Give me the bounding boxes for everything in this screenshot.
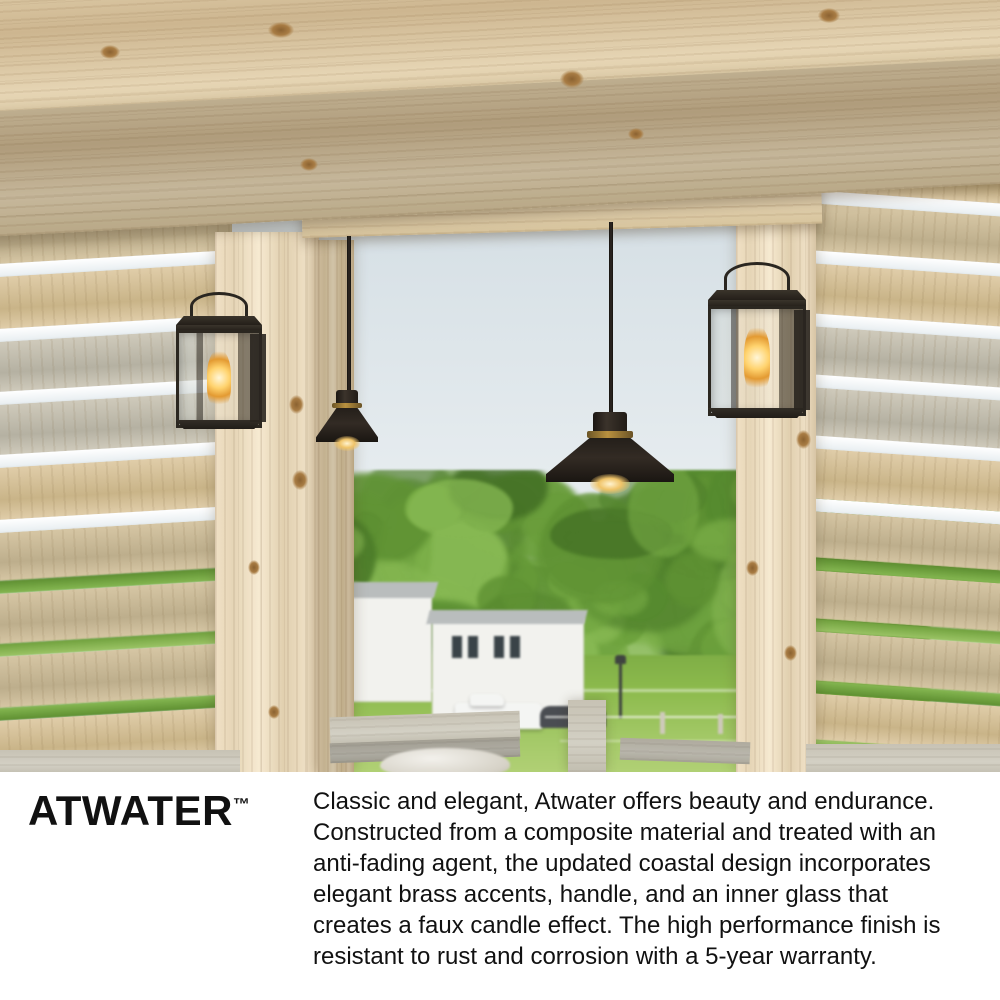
louvered-slat-wall-left [0,150,232,772]
fence-stub [660,712,665,734]
background-house [432,618,584,716]
caption-bar: ATWATER™ Classic and elegant, Atwater of… [0,772,1000,1000]
pendant-cord [609,222,613,422]
wood-knot [818,8,840,23]
pendant-cord [347,236,351,396]
brand-name: ATWATER [28,787,233,834]
lantern-mount-arm [794,310,810,410]
tree-canopy [408,479,513,539]
lantern-roof [708,290,806,300]
pendant-brass-ring [587,431,633,438]
fence-stub [718,714,723,734]
wood-knot [628,128,644,140]
trademark-symbol: ™ [233,795,250,814]
wood-knot [746,560,759,576]
house-window [510,636,520,658]
wall-lantern-right [708,262,806,430]
lantern-candle-flame [744,326,770,392]
wood-knot [560,70,584,88]
wood-knot [784,645,797,661]
wood-knot [248,560,260,575]
product-description: Classic and elegant, Atwater offers beau… [313,786,973,972]
house-window [494,636,504,658]
lantern-candle-flame [207,350,231,408]
louvered-slat-wall-right [812,150,1000,772]
product-description-text: Classic and elegant, Atwater offers beau… [313,786,973,972]
house-window [468,636,478,658]
pendant-cap [593,412,627,432]
house-window [452,636,462,658]
foreground-fence-post [568,700,606,772]
yard-lamp-head [615,655,626,664]
wood-knot [292,470,308,490]
bottom-sill-board [806,744,1000,772]
wood-knot [289,395,304,414]
brand-logo: ATWATER™ [28,790,250,832]
wood-knot [268,22,294,38]
bottom-sill-board [0,750,240,772]
wood-knot [300,158,318,171]
wood-knot [796,430,811,449]
pendant-cap [336,390,358,404]
wall-lantern-left [176,292,262,442]
yard-lamp-post [619,662,622,718]
lantern-mount-arm [250,334,266,422]
product-lifestyle-photograph [0,0,1000,772]
lantern-roof [176,316,262,325]
lantern-base [708,408,806,418]
wood-knot [268,705,280,719]
pendant-brass-ring [332,403,362,408]
house-roof [426,610,587,624]
pendant-bulb-glow [334,436,360,451]
truck-cab [470,694,504,706]
tree-canopy [665,553,719,607]
wood-knot [100,45,120,59]
pendant-bulb-glow [590,474,630,494]
product-lifestyle-card: ATWATER™ Classic and elegant, Atwater of… [0,0,1000,1000]
foreground-railing [620,738,751,765]
